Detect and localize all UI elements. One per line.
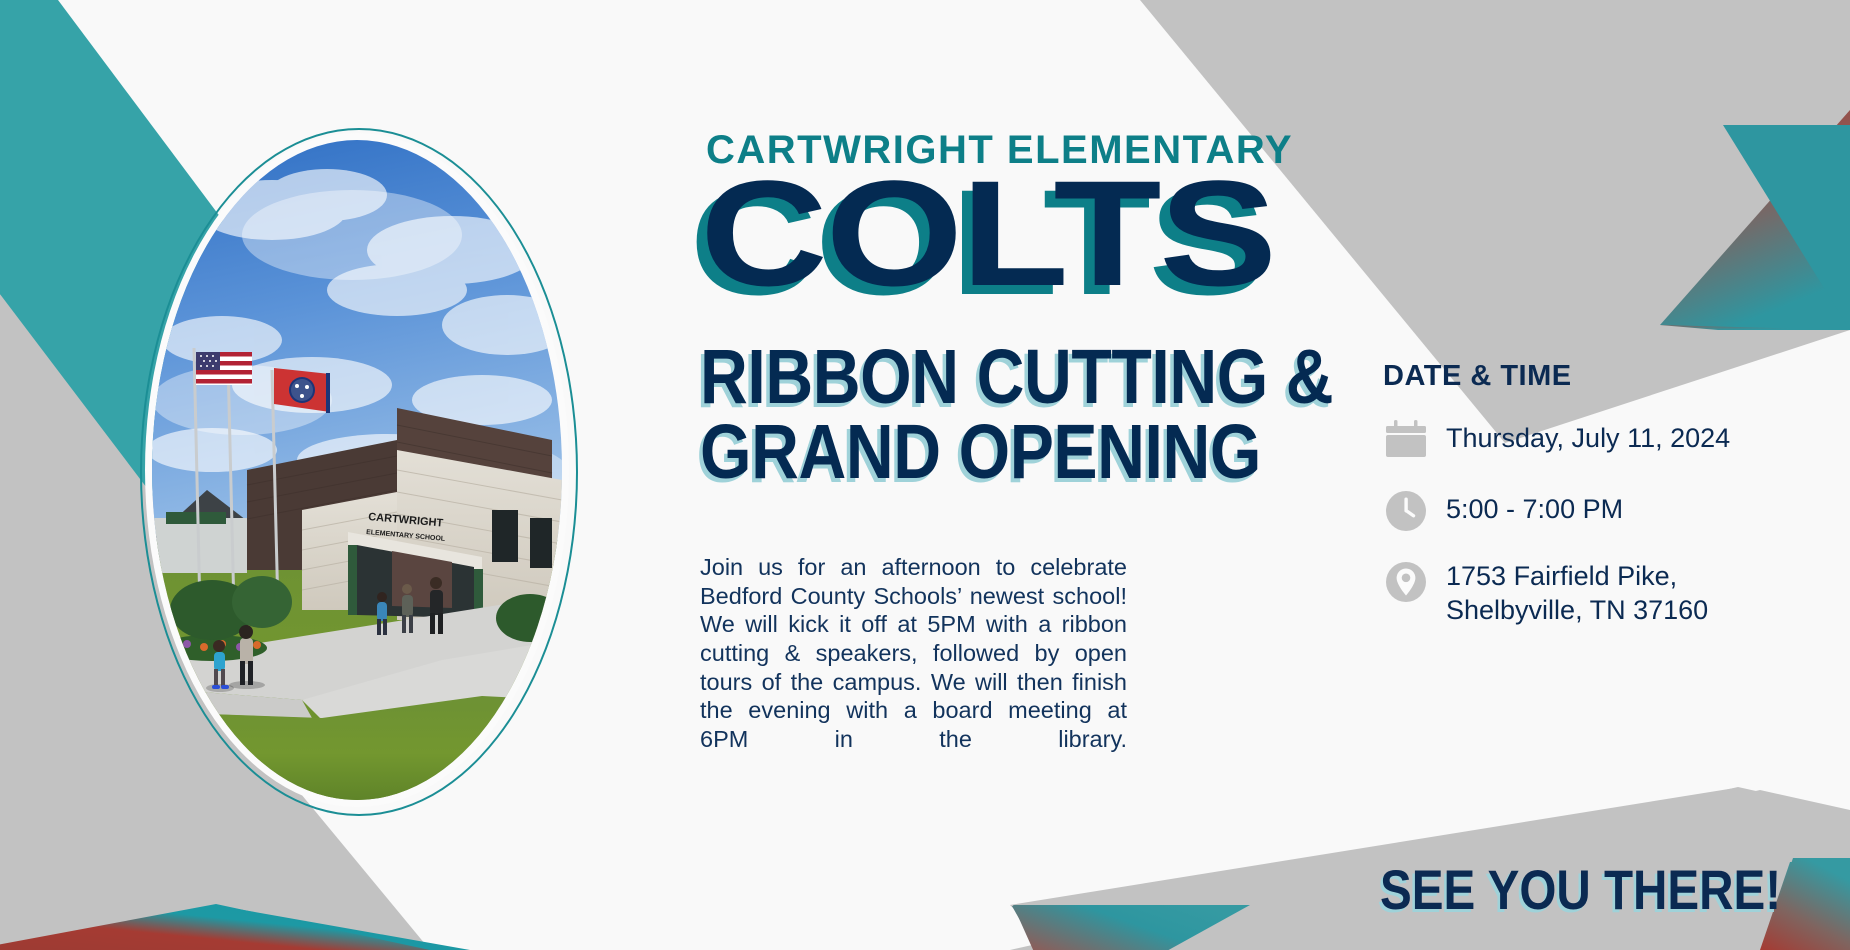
deco-gradient-top-right <box>1660 110 1850 330</box>
date-time-heading: DATE & TIME <box>1383 360 1813 393</box>
address-line-2: Shelbyville, TN 37160 <box>1446 595 1708 625</box>
school-photo: CARTWRIGHT ELEMENTARY SCHOOL <box>152 140 562 800</box>
time-row: 5:00 - 7:00 PM <box>1383 488 1813 534</box>
brand-block: CARTWRIGHT ELEMENTARY COLTS <box>700 130 1420 295</box>
mascot-title: COLTS <box>700 172 1550 295</box>
event-headline: RIBBON CUTTING & GRAND OPENING <box>700 340 1233 491</box>
deco-gradient-triangle-bottom-left-corner-br <box>1013 905 1250 950</box>
clock-icon <box>1383 488 1429 534</box>
event-headline-line1: RIBBON CUTTING & <box>700 340 1233 415</box>
event-description: Join us for an afternoon to celebrate Be… <box>700 553 1127 782</box>
deco-gradient-bottom-left-big <box>0 904 430 950</box>
see-you-there-tagline: SEE YOU THERE! <box>1380 862 1781 918</box>
event-date: Thursday, July 11, 2024 <box>1446 417 1730 456</box>
event-time: 5:00 - 7:00 PM <box>1446 488 1623 527</box>
school-photo-ring <box>140 128 578 816</box>
deco-gradient-triangle-bottom-left <box>0 918 410 950</box>
date-time-block: DATE & TIME Thursday, July 11, 2024 <box>1383 360 1813 653</box>
calendar-icon <box>1383 417 1429 463</box>
flyer-canvas: CARTWRIGHT ELEMENTARY SCHOOL <box>0 0 1850 950</box>
deco-gradient-wedge-bottom-left <box>0 905 470 950</box>
event-headline-line2: GRAND OPENING <box>700 415 1233 490</box>
address-row: 1753 Fairfield Pike, Shelbyville, TN 371… <box>1383 559 1813 628</box>
date-row: Thursday, July 11, 2024 <box>1383 417 1813 463</box>
deco-gradient-triangle-bottom-center <box>1012 906 1190 950</box>
deco-teal-triangle-top-right <box>1723 125 1850 330</box>
map-pin-icon <box>1383 559 1429 605</box>
deco-gradient-triangle-top-right <box>1660 318 1850 330</box>
deco-gradient-triangle-bottom-center-main <box>1012 906 1190 950</box>
event-address: 1753 Fairfield Pike, Shelbyville, TN 371… <box>1446 559 1708 628</box>
address-line-1: 1753 Fairfield Pike, <box>1446 561 1677 591</box>
deco-gradient-triangle-bottom-left-main <box>0 907 420 950</box>
